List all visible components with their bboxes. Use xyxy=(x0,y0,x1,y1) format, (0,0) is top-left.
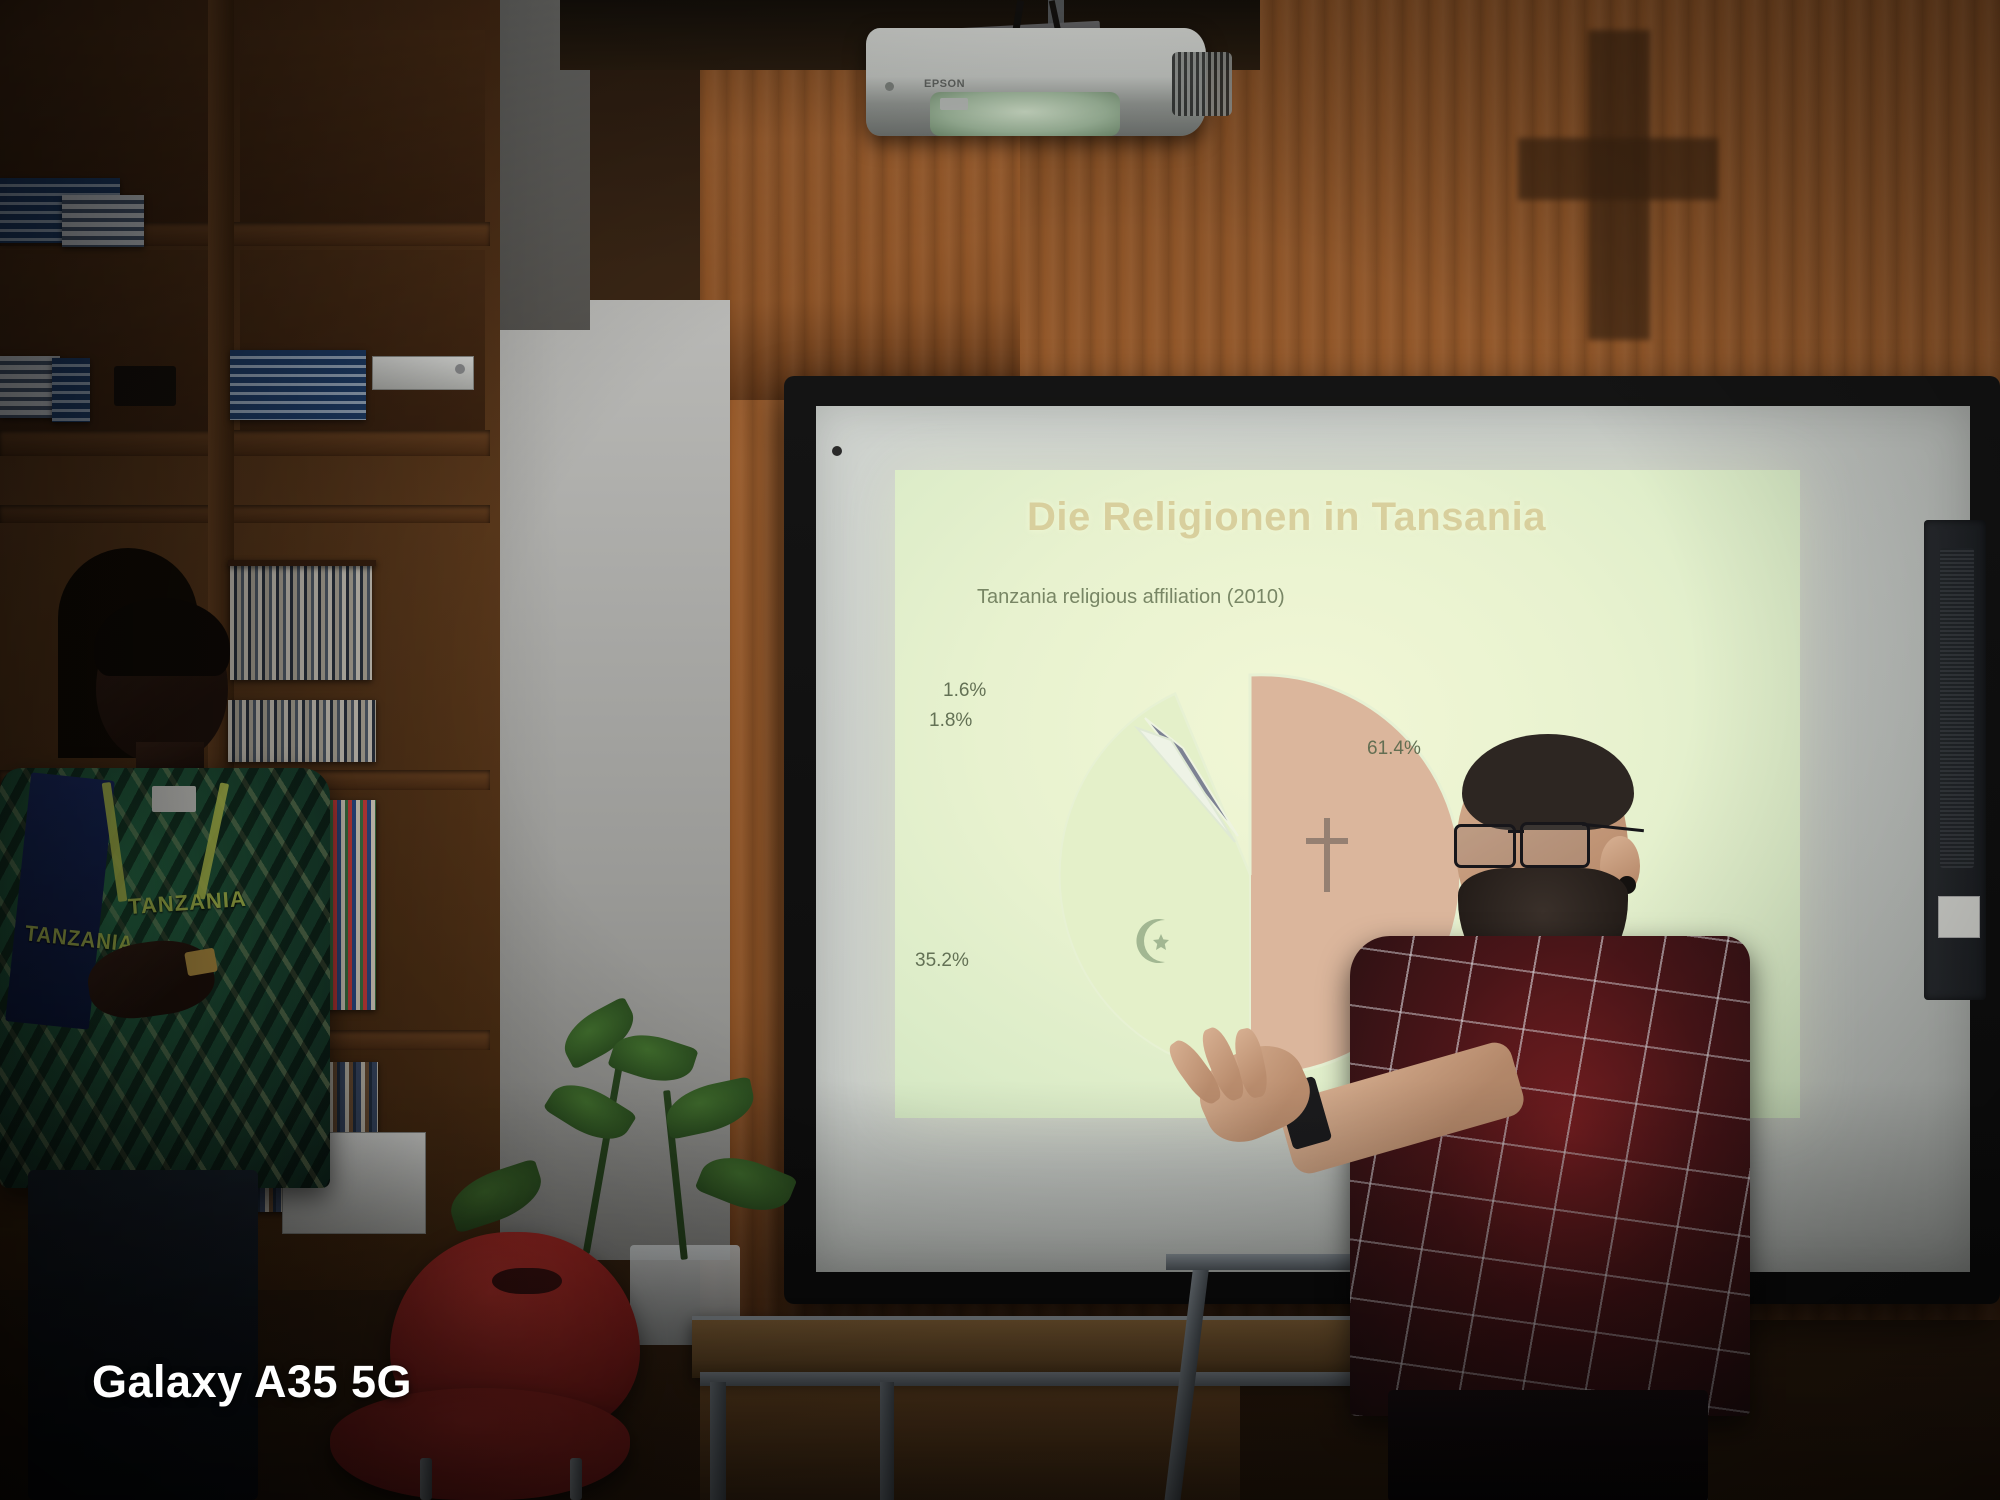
box-handle-icon xyxy=(455,364,465,374)
clerical-collar xyxy=(152,786,196,812)
book-stack xyxy=(230,350,366,420)
speaker-grill-icon xyxy=(1940,548,1974,868)
eyeglasses-right-lens xyxy=(1520,822,1590,868)
shelf-divider xyxy=(0,505,490,523)
chart-title: Tanzania religious affiliation (2010) xyxy=(977,586,1285,609)
photo-scene: EPSON Die Religionen in Tansania Tanzani… xyxy=(0,0,2000,1500)
chair-leg xyxy=(570,1458,582,1500)
presenter-right-torso xyxy=(1350,936,1750,1416)
desk-leg xyxy=(710,1382,726,1500)
projector-button[interactable] xyxy=(940,98,968,110)
shelf-dark-items xyxy=(114,366,176,406)
eyeglasses-left-lens xyxy=(1454,824,1516,868)
pie-label-folk: 1.8% xyxy=(929,710,972,732)
book-row xyxy=(228,560,376,566)
chair-leg xyxy=(420,1458,432,1500)
shelf-back-panel xyxy=(240,30,485,230)
book-stack xyxy=(0,356,60,418)
presenter-left-legs xyxy=(28,1170,258,1500)
whiteboard-sensor-dot xyxy=(832,446,842,456)
speaker-label-tag xyxy=(1938,896,1980,938)
wall-cross-icon xyxy=(1490,20,1750,350)
pie-label-unaffiliated: 1.6% xyxy=(943,680,986,702)
projector-indicator-light xyxy=(885,82,894,91)
pie-label-muslim: 35.2% xyxy=(915,950,969,972)
desk-leg xyxy=(880,1382,894,1500)
shelf-divider xyxy=(0,430,490,456)
camera-watermark: Galaxy A35 5G xyxy=(92,1356,412,1408)
presenter-left-hair xyxy=(94,598,230,676)
classroom-desk-top[interactable] xyxy=(692,1316,1422,1378)
eyeglasses-bridge xyxy=(1508,830,1524,833)
slide-title: Die Religionen in Tansania xyxy=(1027,495,1546,540)
presenter-right-legs xyxy=(1388,1390,1708,1500)
projector-vent-grill xyxy=(1172,52,1232,116)
book-stack xyxy=(62,195,144,247)
pie-slice-muslim xyxy=(1060,694,1250,1075)
islamic-crescent-symbol xyxy=(1127,914,1181,968)
desk-frame-rail xyxy=(700,1372,1414,1386)
presenter-right xyxy=(1320,740,1780,1500)
chair-handle-slot xyxy=(492,1268,562,1294)
presenter-right-hair xyxy=(1462,734,1634,830)
projector-brand-label: EPSON xyxy=(924,78,965,90)
wristwatch xyxy=(184,948,218,977)
book-stack xyxy=(52,358,90,422)
